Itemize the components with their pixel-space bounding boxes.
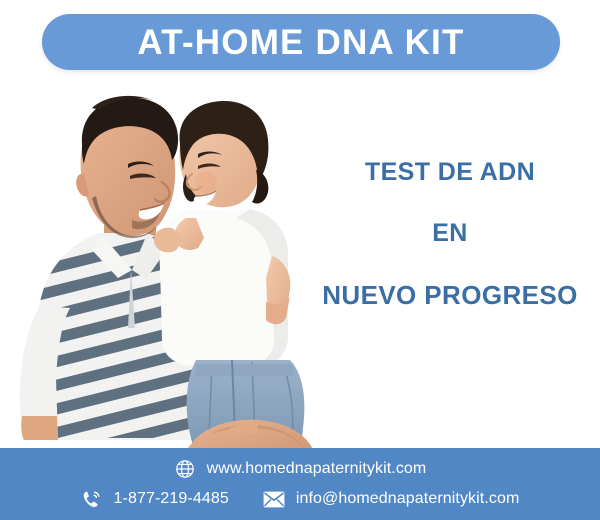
dna-kit-banner: AT-HOME DNA KIT	[0, 0, 600, 520]
father-and-child-illustration	[0, 78, 320, 458]
website-item[interactable]: www.homednapaternitykit.com	[174, 458, 427, 480]
footer-phone-email-row: 1-877-219-4485 info@homednapaternitykit.…	[0, 488, 600, 510]
website-label: www.homednapaternitykit.com	[207, 460, 427, 478]
email-label: info@homednapaternitykit.com	[296, 490, 520, 508]
phone-icon	[81, 488, 103, 510]
page-title: AT-HOME DNA KIT	[137, 25, 464, 60]
phone-item[interactable]: 1-877-219-4485	[81, 488, 229, 510]
headline-line-1: TEST DE ADN	[310, 160, 590, 185]
headline-line-3: NUEVO PROGRESO	[310, 282, 590, 308]
header-pill: AT-HOME DNA KIT	[42, 14, 560, 70]
footer-contact-bar: www.homednapaternitykit.com 1-877-219-44…	[0, 448, 600, 520]
phone-label: 1-877-219-4485	[114, 490, 229, 508]
headline-block: TEST DE ADN EN NUEVO PROGRESO	[310, 160, 590, 308]
family-photo	[0, 78, 320, 458]
email-item[interactable]: info@homednapaternitykit.com	[263, 488, 520, 510]
globe-icon	[174, 458, 196, 480]
footer-website-row: www.homednapaternitykit.com	[0, 458, 600, 480]
envelope-icon	[263, 488, 285, 510]
headline-line-2: EN	[310, 221, 590, 246]
